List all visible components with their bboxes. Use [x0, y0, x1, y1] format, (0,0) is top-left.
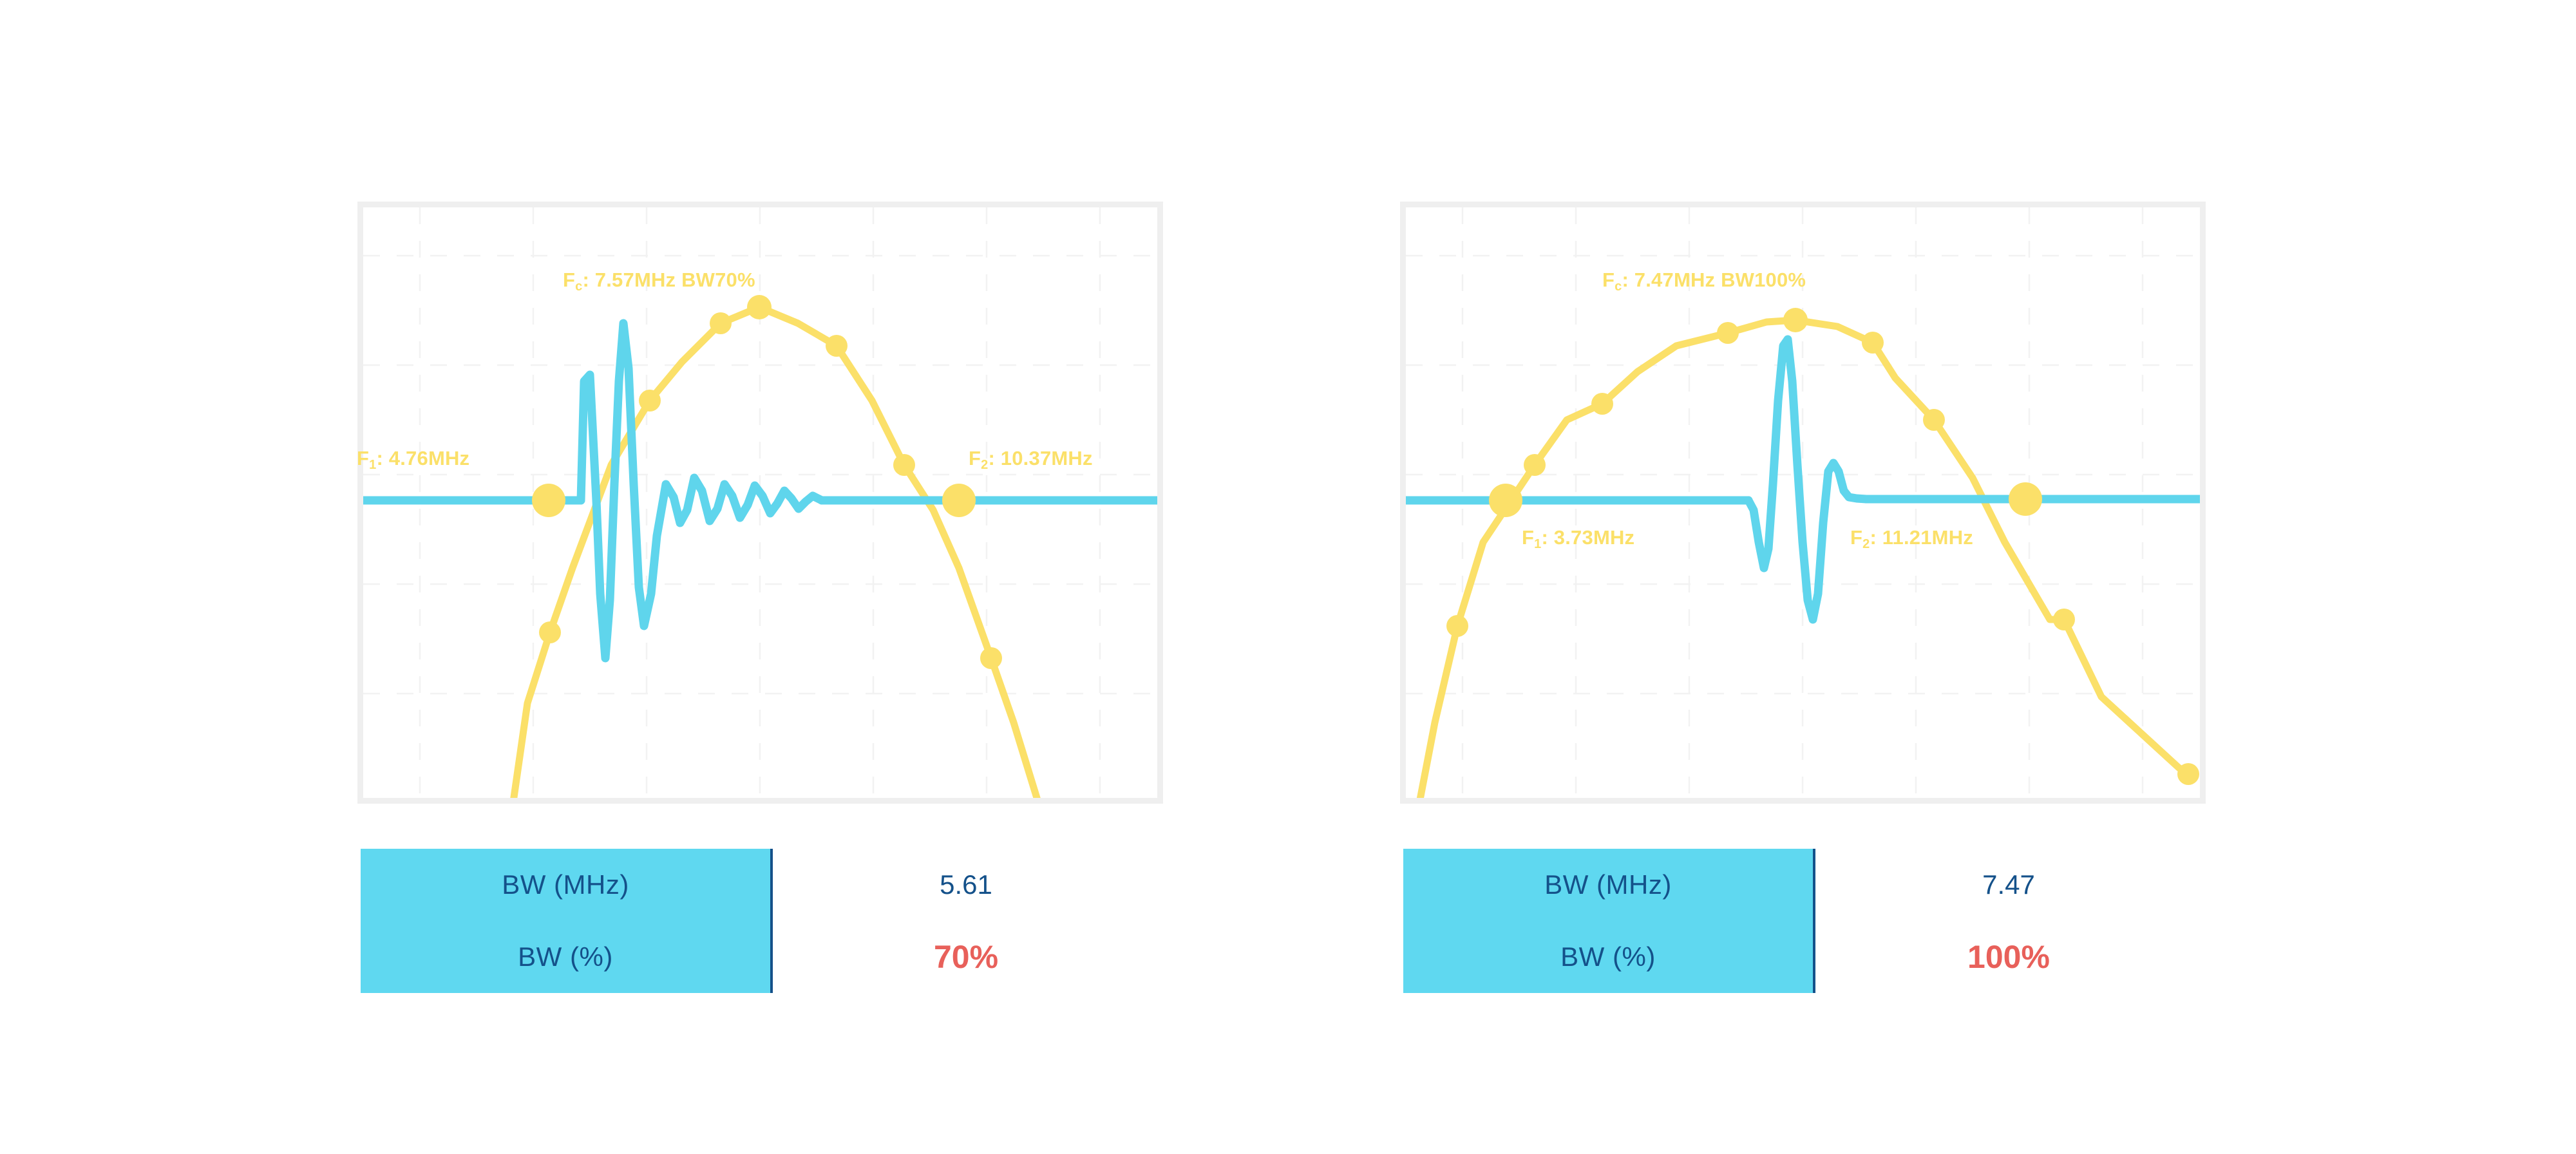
bw-percent-value: 100%: [1815, 921, 2202, 993]
data-point: [1591, 393, 1613, 415]
table-row: BW (%) 70%: [361, 921, 1159, 993]
data-point: [1717, 322, 1739, 344]
bw-percent-label: BW (%): [361, 921, 773, 993]
data-point: [980, 647, 1002, 669]
bw-percent-value: 70%: [773, 921, 1159, 993]
plot-frame-bw70: Fc: 7.57MHz BW70% F1: 4.76MHz F2: 10.37M…: [357, 202, 1163, 804]
bw-mhz-value: 5.61: [773, 849, 1159, 921]
spectrum-plot-bw100: [1406, 207, 2200, 798]
plot-area-bw70: [363, 207, 1157, 798]
data-point: [2053, 609, 2075, 630]
panel-bw100: Fc: 7.47MHz BW100% F1: 3.73MHz F2: 11.21…: [1400, 202, 2206, 804]
table-row: BW (%) 100%: [1403, 921, 2202, 993]
figure-canvas: Fc: 7.57MHz BW70% F1: 4.76MHz F2: 10.37M…: [0, 0, 2576, 1154]
waveform-trace: [363, 323, 1157, 658]
spectrum-plot-bw70: [363, 207, 1157, 798]
data-point-fc: [747, 295, 772, 319]
marker-f1: [532, 484, 565, 517]
panel-bw70: Fc: 7.57MHz BW70% F1: 4.76MHz F2: 10.37M…: [357, 202, 1163, 804]
bw-table-bw100: BW (MHz) 7.47 BW (%) 100%: [1403, 849, 2202, 993]
bw-percent-label: BW (%): [1403, 921, 1815, 993]
table-row: BW (MHz) 5.61: [361, 849, 1159, 921]
annotation-fc: Fc: 7.47MHz BW100%: [1602, 269, 1806, 294]
data-point: [893, 454, 915, 476]
bw-table-bw70: BW (MHz) 5.61 BW (%) 70%: [361, 849, 1159, 993]
data-point-fc: [1783, 308, 1808, 332]
data-point: [1446, 615, 1468, 637]
plot-area-bw100: [1406, 207, 2200, 798]
marker-f2: [942, 484, 976, 517]
annotation-f1: F1: 4.76MHz: [357, 447, 469, 473]
annotation-f2: F2: 10.37MHz: [969, 447, 1093, 473]
data-point: [539, 621, 561, 643]
bw-mhz-value: 7.47: [1815, 849, 2202, 921]
data-point: [1862, 332, 1884, 354]
data-point: [1524, 454, 1546, 476]
plot-frame-bw100: Fc: 7.47MHz BW100% F1: 3.73MHz F2: 11.21…: [1400, 202, 2206, 804]
bw-mhz-label: BW (MHz): [1403, 849, 1815, 921]
data-point: [710, 312, 732, 334]
table-row: BW (MHz) 7.47: [1403, 849, 2202, 921]
annotation-f1: F1: 3.73MHz: [1522, 526, 1634, 552]
data-point: [826, 335, 848, 357]
marker-f1: [1489, 484, 1522, 517]
data-point: [1923, 409, 1945, 431]
data-point: [639, 390, 661, 411]
data-point: [2177, 763, 2199, 785]
annotation-f2: F2: 11.21MHz: [1850, 526, 1973, 552]
marker-f2: [2009, 482, 2042, 516]
bw-mhz-label: BW (MHz): [361, 849, 773, 921]
annotation-fc: Fc: 7.57MHz BW70%: [563, 269, 755, 294]
